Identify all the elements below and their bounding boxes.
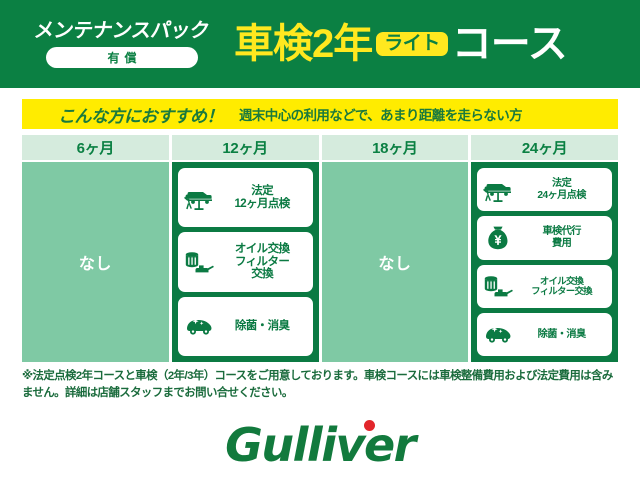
column-body-services: 法定12ヶ月点検オイル交換フィルター交換除菌・消臭 xyxy=(172,162,319,362)
service-label: 車検代行費用 xyxy=(515,226,608,249)
recommend-description: 週末中心の利用などで、あまり距離を走らない方 xyxy=(239,104,522,124)
service-card: 除菌・消臭 xyxy=(477,313,612,356)
column-header-3: 24ヶ月 xyxy=(471,135,618,160)
gulliver-logo-text: Gulliver xyxy=(225,418,415,472)
column-header-1: 12ヶ月 xyxy=(172,135,319,160)
header-bar: メンテナンスパック 有償 車検2年 ライト コース xyxy=(0,0,640,88)
oil-filter-change-icon xyxy=(481,273,515,299)
service-label: 除菌・消臭 xyxy=(515,329,608,340)
none-label: なし xyxy=(79,250,112,274)
schedule-column: 18ヶ月なし xyxy=(322,135,469,362)
car-lift-inspection-icon xyxy=(481,177,515,203)
headline-main: 車検2年 xyxy=(234,24,372,64)
service-label: オイル交換フィルター交換 xyxy=(216,243,309,282)
car-sanitize-icon xyxy=(182,315,216,337)
paid-badge-label: 有償 xyxy=(102,49,141,66)
none-label: なし xyxy=(378,250,411,274)
maintenance-schedule-table: 6ヶ月なし12ヶ月法定12ヶ月点検オイル交換フィルター交換除菌・消臭18ヶ月なし… xyxy=(22,135,618,362)
headline-course: コース xyxy=(452,24,567,64)
schedule-column: 12ヶ月法定12ヶ月点検オイル交換フィルター交換除菌・消臭 xyxy=(172,135,319,362)
column-header-2: 18ヶ月 xyxy=(322,135,469,160)
column-body-empty: なし xyxy=(322,162,469,362)
service-card: オイル交換フィルター交換 xyxy=(477,265,612,308)
service-label: 法定24ヶ月点検 xyxy=(515,178,608,201)
service-card: 車検代行費用 xyxy=(477,216,612,259)
car-sanitize-icon xyxy=(481,323,515,345)
headline-light-badge: ライト xyxy=(376,32,448,56)
service-label: オイル交換フィルター交換 xyxy=(515,276,608,297)
recommend-heading: こんな方におすすめ！ xyxy=(58,102,223,127)
recommend-banner: こんな方におすすめ！ 週末中心の利用などで、あまり距離を走らない方 xyxy=(22,99,618,129)
column-body-services: 法定24ヶ月点検車検代行費用オイル交換フィルター交換除菌・消臭 xyxy=(471,162,618,362)
brand-logo-area: Gulliver xyxy=(0,415,640,475)
header-left-block: メンテナンスパック 有償 xyxy=(0,21,232,68)
header-headline-block: 車検2年 ライト コース xyxy=(232,0,640,88)
oil-filter-change-icon xyxy=(182,249,216,275)
schedule-column: 24ヶ月法定24ヶ月点検車検代行費用オイル交換フィルター交換除菌・消臭 xyxy=(471,135,618,362)
service-card: オイル交換フィルター交換 xyxy=(178,232,313,291)
schedule-column: 6ヶ月なし xyxy=(22,135,169,362)
advertisement-page: メンテナンスパック 有償 車検2年 ライト コース こんな方におすすめ！ 週末中… xyxy=(0,0,640,480)
service-label: 法定12ヶ月点検 xyxy=(216,185,309,211)
car-lift-inspection-icon xyxy=(182,185,216,211)
service-card: 除菌・消臭 xyxy=(178,297,313,356)
service-card: 法定24ヶ月点検 xyxy=(477,168,612,211)
column-header-0: 6ヶ月 xyxy=(22,135,169,160)
paid-badge: 有償 xyxy=(46,47,198,68)
gulliver-logo: Gulliver xyxy=(225,418,415,472)
disclaimer-text: ※法定点検2年コースと車検（2年/3年）コースをご用意しております。車検コースに… xyxy=(22,368,622,401)
service-label: 除菌・消臭 xyxy=(216,320,309,333)
column-body-empty: なし xyxy=(22,162,169,362)
money-bag-yen-icon xyxy=(481,225,515,251)
service-card: 法定12ヶ月点検 xyxy=(178,168,313,227)
maintenance-pack-title: メンテナンスパック xyxy=(33,21,211,42)
